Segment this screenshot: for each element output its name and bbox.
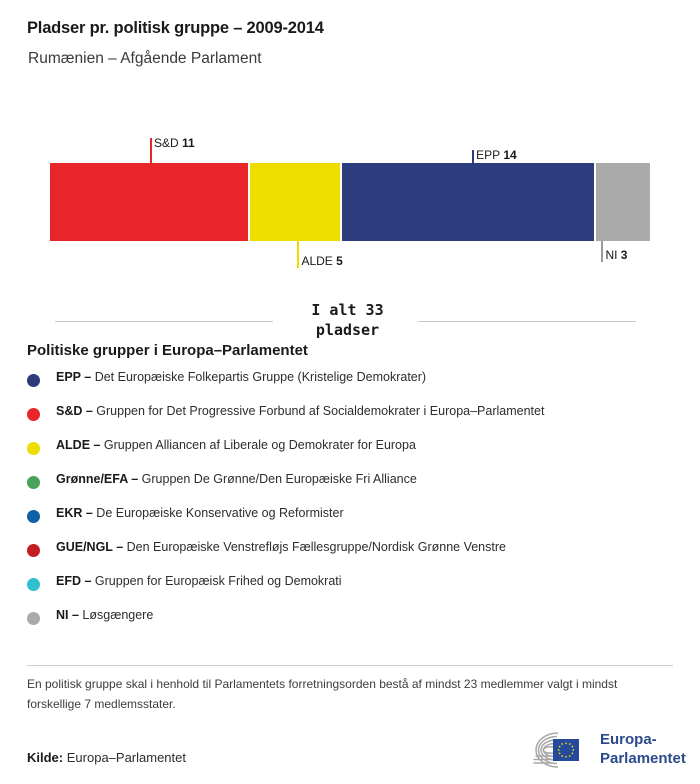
ep-logo-mark: [512, 726, 594, 774]
legend-item[interactable]: EFD – Gruppen for Europæisk Frihed og De…: [27, 572, 677, 606]
callout-leader-line: [297, 241, 299, 268]
legend-heading: Politiske grupper i Europa–Parlamentet: [27, 342, 308, 359]
legend-item-abbr: NI –: [56, 608, 79, 622]
seat-distribution-bar: [50, 163, 650, 241]
legend-color-dot: [27, 578, 40, 591]
callout-seat-count: 5: [336, 254, 343, 268]
european-parliament-logo: Europa- Parlamentet: [512, 726, 677, 774]
total-seats-row: I alt 33 pladser: [0, 300, 700, 342]
bar-segment-s-d[interactable]: [50, 163, 248, 241]
source-label: Kilde:: [27, 750, 63, 765]
callout-group-name: EPP: [476, 148, 500, 162]
footnote-text: En politisk gruppe skal i henhold til Pa…: [27, 674, 647, 714]
footnote-divider: [27, 665, 673, 666]
legend-item-description: Den Europæiske Venstrefløjs Fællesgruppe…: [123, 540, 506, 554]
legend-item-text: EFD – Gruppen for Europæisk Frihed og De…: [56, 574, 342, 588]
legend-item-abbr: EFD –: [56, 574, 91, 588]
callout-group-name: ALDE: [301, 254, 332, 268]
total-seats-line1: I alt 33: [285, 300, 410, 320]
legend-item-text: GUE/NGL – Den Europæiske Venstrefløjs Fæ…: [56, 540, 506, 554]
legend-item[interactable]: NI – Løsgængere: [27, 606, 677, 640]
page-subtitle: Rumænien – Afgående Parlament: [28, 50, 262, 68]
legend-item-description: Gruppen Alliancen af Liberale og Demokra…: [100, 438, 415, 452]
legend-item[interactable]: ALDE – Gruppen Alliancen af Liberale og …: [27, 436, 677, 470]
legend-color-dot: [27, 544, 40, 557]
legend-item-text: ALDE – Gruppen Alliancen af Liberale og …: [56, 438, 416, 452]
legend-item[interactable]: S&D – Gruppen for Det Progressive Forbun…: [27, 402, 677, 436]
legend-item[interactable]: Grønne/EFA – Gruppen De Grønne/Den Europ…: [27, 470, 677, 504]
total-seats-label: I alt 33 pladser: [285, 300, 410, 340]
legend-item-text: Grønne/EFA – Gruppen De Grønne/Den Europ…: [56, 472, 417, 486]
legend-item-description: Det Europæiske Folkepartis Gruppe (Krist…: [91, 370, 426, 384]
callout-label: EPP 14: [476, 148, 517, 162]
legend-item-text: S&D – Gruppen for Det Progressive Forbun…: [56, 404, 544, 418]
legend-item-description: Gruppen for Det Progressive Forbund af S…: [93, 404, 545, 418]
callout-group-name: S&D: [154, 136, 179, 150]
legend-list: EPP – Det Europæiske Folkepartis Gruppe …: [27, 368, 677, 640]
callout-seat-count: 11: [182, 136, 195, 150]
page-title: Pladser pr. politisk gruppe – 2009-2014: [27, 19, 324, 38]
total-seats-line2: pladser: [285, 320, 410, 340]
legend-item-description: Gruppen for Europæisk Frihed og Demokrat…: [91, 574, 341, 588]
callout-leader-line: [150, 138, 152, 163]
legend-color-dot: [27, 408, 40, 421]
callout-seat-count: 3: [621, 248, 628, 262]
legend-color-dot: [27, 510, 40, 523]
legend-item-abbr: Grønne/EFA –: [56, 472, 138, 486]
legend-color-dot: [27, 442, 40, 455]
source-value: Europa–Parlamentet: [67, 750, 186, 765]
legend-item-text: EPP – Det Europæiske Folkepartis Gruppe …: [56, 370, 426, 384]
callout-label: NI 3: [605, 248, 627, 262]
legend-item[interactable]: EKR – De Europæiske Konservative og Refo…: [27, 504, 677, 538]
ep-logo-text: Europa- Parlamentet: [600, 730, 686, 768]
legend-color-dot: [27, 612, 40, 625]
legend-item-abbr: EPP –: [56, 370, 91, 384]
legend-color-dot: [27, 374, 40, 387]
legend-item-description: De Europæiske Konservative og Reformiste…: [93, 506, 344, 520]
legend-color-dot: [27, 476, 40, 489]
callout-group-name: NI: [605, 248, 617, 262]
ep-logo-text-line1: Europa-: [600, 730, 686, 749]
callout-label: S&D 11: [154, 136, 195, 150]
legend-item[interactable]: GUE/NGL – Den Europæiske Venstrefløjs Fæ…: [27, 538, 677, 572]
total-rule-left: [55, 321, 273, 322]
callout-label: ALDE 5: [301, 254, 342, 268]
legend-item-abbr: S&D –: [56, 404, 93, 418]
callout-leader-line: [472, 150, 474, 163]
legend-item-abbr: EKR –: [56, 506, 93, 520]
legend-item-abbr: ALDE –: [56, 438, 100, 452]
total-rule-right: [418, 321, 636, 322]
legend-item-abbr: GUE/NGL –: [56, 540, 123, 554]
bar-segment-alde[interactable]: [250, 163, 340, 241]
ep-logo-svg: [512, 726, 594, 774]
legend-item-text: EKR – De Europæiske Konservative og Refo…: [56, 506, 344, 520]
legend-item-description: Løsgængere: [79, 608, 153, 622]
legend-item-text: NI – Løsgængere: [56, 608, 153, 622]
ep-logo-text-line2: Parlamentet: [600, 749, 686, 768]
legend-item-description: Gruppen De Grønne/Den Europæiske Fri All…: [138, 472, 417, 486]
callout-leader-line: [601, 241, 603, 262]
infographic-page: Pladser pr. politisk gruppe – 2009-2014 …: [0, 0, 700, 784]
legend-item[interactable]: EPP – Det Europæiske Folkepartis Gruppe …: [27, 368, 677, 402]
callout-seat-count: 14: [503, 148, 516, 162]
source-line: Kilde: Europa–Parlamentet: [27, 750, 186, 765]
bar-segment-epp[interactable]: [342, 163, 594, 241]
bar-segment-ni[interactable]: [596, 163, 650, 241]
